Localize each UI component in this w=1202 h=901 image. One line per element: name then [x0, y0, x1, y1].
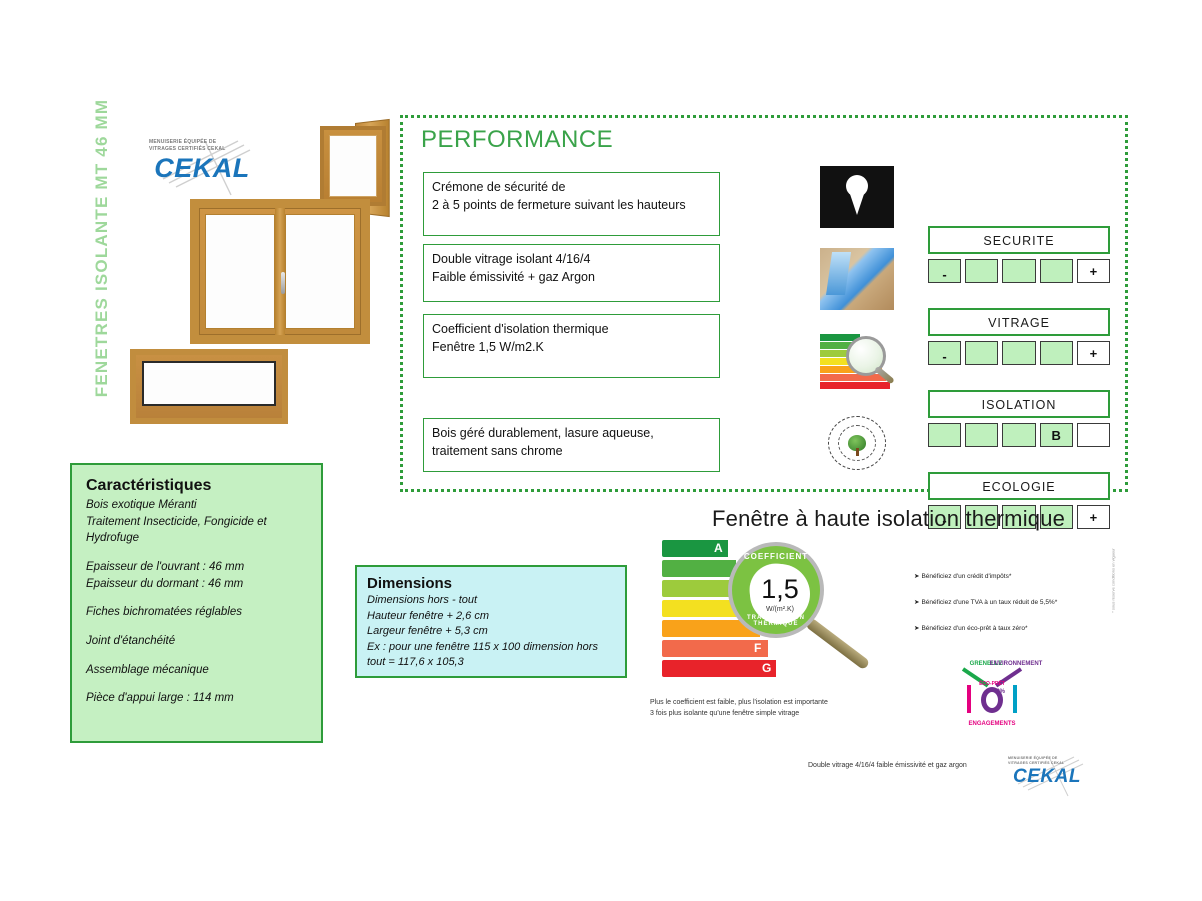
- benefits-list: ➤Bénéficiez d'un crédit d'impôts* ➤Bénéf…: [914, 572, 1094, 650]
- dimensions-panel: Dimensions Dimensions hors - tout Hauteu…: [355, 565, 627, 678]
- window-pane: [329, 135, 377, 197]
- caracteristiques-panel: Caractéristiques Bois exotique Méranti T…: [70, 463, 323, 743]
- benefit-item: ➤Bénéficiez d'une TVA à un taux réduit d…: [914, 598, 1094, 606]
- dimensions-line: Largeur fenêtre + 5,3 cm: [367, 624, 615, 640]
- eco-stamp-icon: [820, 412, 894, 474]
- coefficient-magnifier-badge: COEFFICIENT TRANSMISSION THERMIQUE 1,5 W…: [728, 542, 824, 638]
- energy-class-row: F: [662, 640, 822, 657]
- product-range-title: FENETRES ISOLANTE MT 46 MM: [92, 83, 122, 413]
- window-photo-small: [320, 126, 386, 206]
- cekal-wordmark: CEKAL: [143, 155, 261, 182]
- performance-feature-box: Coefficient d'isolation thermique Fenêtr…: [423, 314, 720, 378]
- chevron-right-icon: ➤: [914, 625, 919, 632]
- energy-class-letter: F: [754, 641, 761, 655]
- window-pane-transom: [142, 361, 276, 406]
- bottom-heading: Fenêtre à haute isolation thermique: [712, 506, 1065, 532]
- rating-row-securite: SECURITE - +: [820, 164, 1110, 226]
- benefit-label: Bénéficiez d'un crédit d'impôts*: [921, 573, 1011, 580]
- window-photo-double-casement: [190, 199, 370, 344]
- performance-title: PERFORMANCE: [421, 126, 613, 154]
- caracteristiques-line: Pièce d'appui large : 114 mm: [86, 690, 307, 707]
- energy-class-row: G: [662, 660, 822, 677]
- caracteristiques-line: Epaisseur du dormant : 46 mm: [86, 576, 307, 593]
- energy-caption-line1: Plus le coefficient est faible, plus l'i…: [650, 697, 900, 708]
- percent-label: 0%: [996, 689, 1005, 695]
- cekal-logo-footer: MENUISERIE ÉQUIPÉE DE VITRAGES CERTIFIÉS…: [1004, 756, 1090, 800]
- rating-row-vitrage: VITRAGE - +: [820, 246, 1110, 308]
- window-photo-transom: [130, 349, 288, 424]
- magnifier-lens-icon: COEFFICIENT TRANSMISSION THERMIQUE 1,5 W…: [728, 542, 824, 638]
- caracteristiques-line: Bois exotique Méranti: [86, 497, 307, 514]
- chevron-right-icon: ➤: [914, 599, 919, 606]
- bottom-note: Double vitrage 4/16/4 faible émissivité …: [808, 762, 967, 769]
- benefit-label: Bénéficiez d'un éco-prêt à taux zéro*: [921, 625, 1027, 632]
- cekal-wordmark: CEKAL: [1004, 767, 1090, 786]
- house-icon: ÉCO-PRÊT 0%: [965, 667, 1019, 713]
- glazing-photo-icon: [820, 248, 894, 310]
- energy-magnifier-icon: [820, 330, 894, 392]
- dimensions-title: Dimensions: [367, 575, 615, 592]
- caracteristiques-line: Joint d'étanchéité: [86, 633, 307, 650]
- grenelle-environnement-logo: GRENELLE ENVIRONNEMENT ÉCO-PRÊT 0% ENGAG…: [949, 651, 1035, 729]
- caracteristiques-line: Hydrofuge: [86, 530, 307, 547]
- energy-class-letter: A: [714, 541, 723, 555]
- benefit-item: ➤Bénéficiez d'un éco-prêt à taux zéro*: [914, 624, 1094, 632]
- performance-panel: PERFORMANCE Crémone de sécurité de 2 à 5…: [400, 115, 1128, 492]
- rating-cell[interactable]: +: [1077, 505, 1110, 529]
- caracteristiques-title: Caractéristiques: [86, 477, 307, 495]
- energy-class-letter: G: [762, 661, 771, 675]
- window-pane-left: [205, 214, 275, 329]
- caracteristiques-line: Epaisseur de l'ouvrant : 46 mm: [86, 559, 307, 576]
- performance-feature-box: Crémone de sécurité de 2 à 5 points de f…: [423, 172, 720, 236]
- caracteristiques-line: Traitement Insecticide, Fongicide et: [86, 514, 307, 531]
- cekal-logo: MENUISERIE ÉQUIPÉE DE VITRAGES CERTIFIÉS…: [143, 139, 261, 201]
- caracteristiques-line: Fiches bichromatées réglables: [86, 604, 307, 621]
- rating-label-ecologie: ECOLOGIE: [928, 472, 1110, 500]
- window-handle-icon: [281, 272, 285, 294]
- dimensions-line: Ex : pour une fenêtre 115 x 100 dimensio…: [367, 640, 615, 656]
- cekal-tagline-line2: VITRAGES CERTIFIÉS CEKAL: [143, 146, 261, 153]
- chevron-right-icon: ➤: [914, 573, 919, 580]
- rating-row-ecologie: ECOLOGIE - +: [820, 410, 1110, 472]
- grenelle-word-bottom: ENGAGEMENTS: [949, 721, 1035, 727]
- side-disclaimer: * sous réserve conditions en vigueur: [1111, 531, 1116, 631]
- keyhole-icon: [820, 166, 894, 228]
- benefit-item: ➤Bénéficiez d'un crédit d'impôts*: [914, 572, 1094, 580]
- caracteristiques-line: Assemblage mécanique: [86, 662, 307, 679]
- coefficient-arc-label: COEFFICIENT: [732, 552, 820, 561]
- coefficient-value: 1,5: [761, 576, 799, 603]
- energy-caption: Plus le coefficient est faible, plus l'i…: [650, 697, 900, 719]
- rating-row-isolation: ISOLATION B: [820, 328, 1110, 390]
- energy-caption-line2: 3 fois plus isolante qu'une fenêtre simp…: [650, 708, 900, 719]
- cekal-tagline-line1: MENUISERIE ÉQUIPÉE DE: [143, 139, 261, 146]
- datasheet-page: FENETRES ISOLANTE MT 46 MM MENUISERIE ÉQ…: [0, 0, 1202, 901]
- dimensions-line: Dimensions hors - tout: [367, 593, 615, 609]
- benefit-label: Bénéficiez d'une TVA à un taux réduit de…: [921, 599, 1057, 606]
- performance-feature-box: Double vitrage isolant 4/16/4 Faible émi…: [423, 244, 720, 302]
- window-pane-right: [285, 214, 355, 329]
- dimensions-line: Hauteur fenêtre + 2,6 cm: [367, 609, 615, 625]
- coefficient-value-wrap: 1,5 W/(m².K): [750, 564, 810, 624]
- performance-feature-box: Bois géré durablement, lasure aqueuse, t…: [423, 418, 720, 472]
- cekal-tagline-line2: VITRAGES CERTIFIÉS CEKAL: [1004, 761, 1090, 766]
- coefficient-unit: W/(m².K): [766, 606, 794, 613]
- dimensions-line: tout = 117,6 x 105,3: [367, 655, 615, 671]
